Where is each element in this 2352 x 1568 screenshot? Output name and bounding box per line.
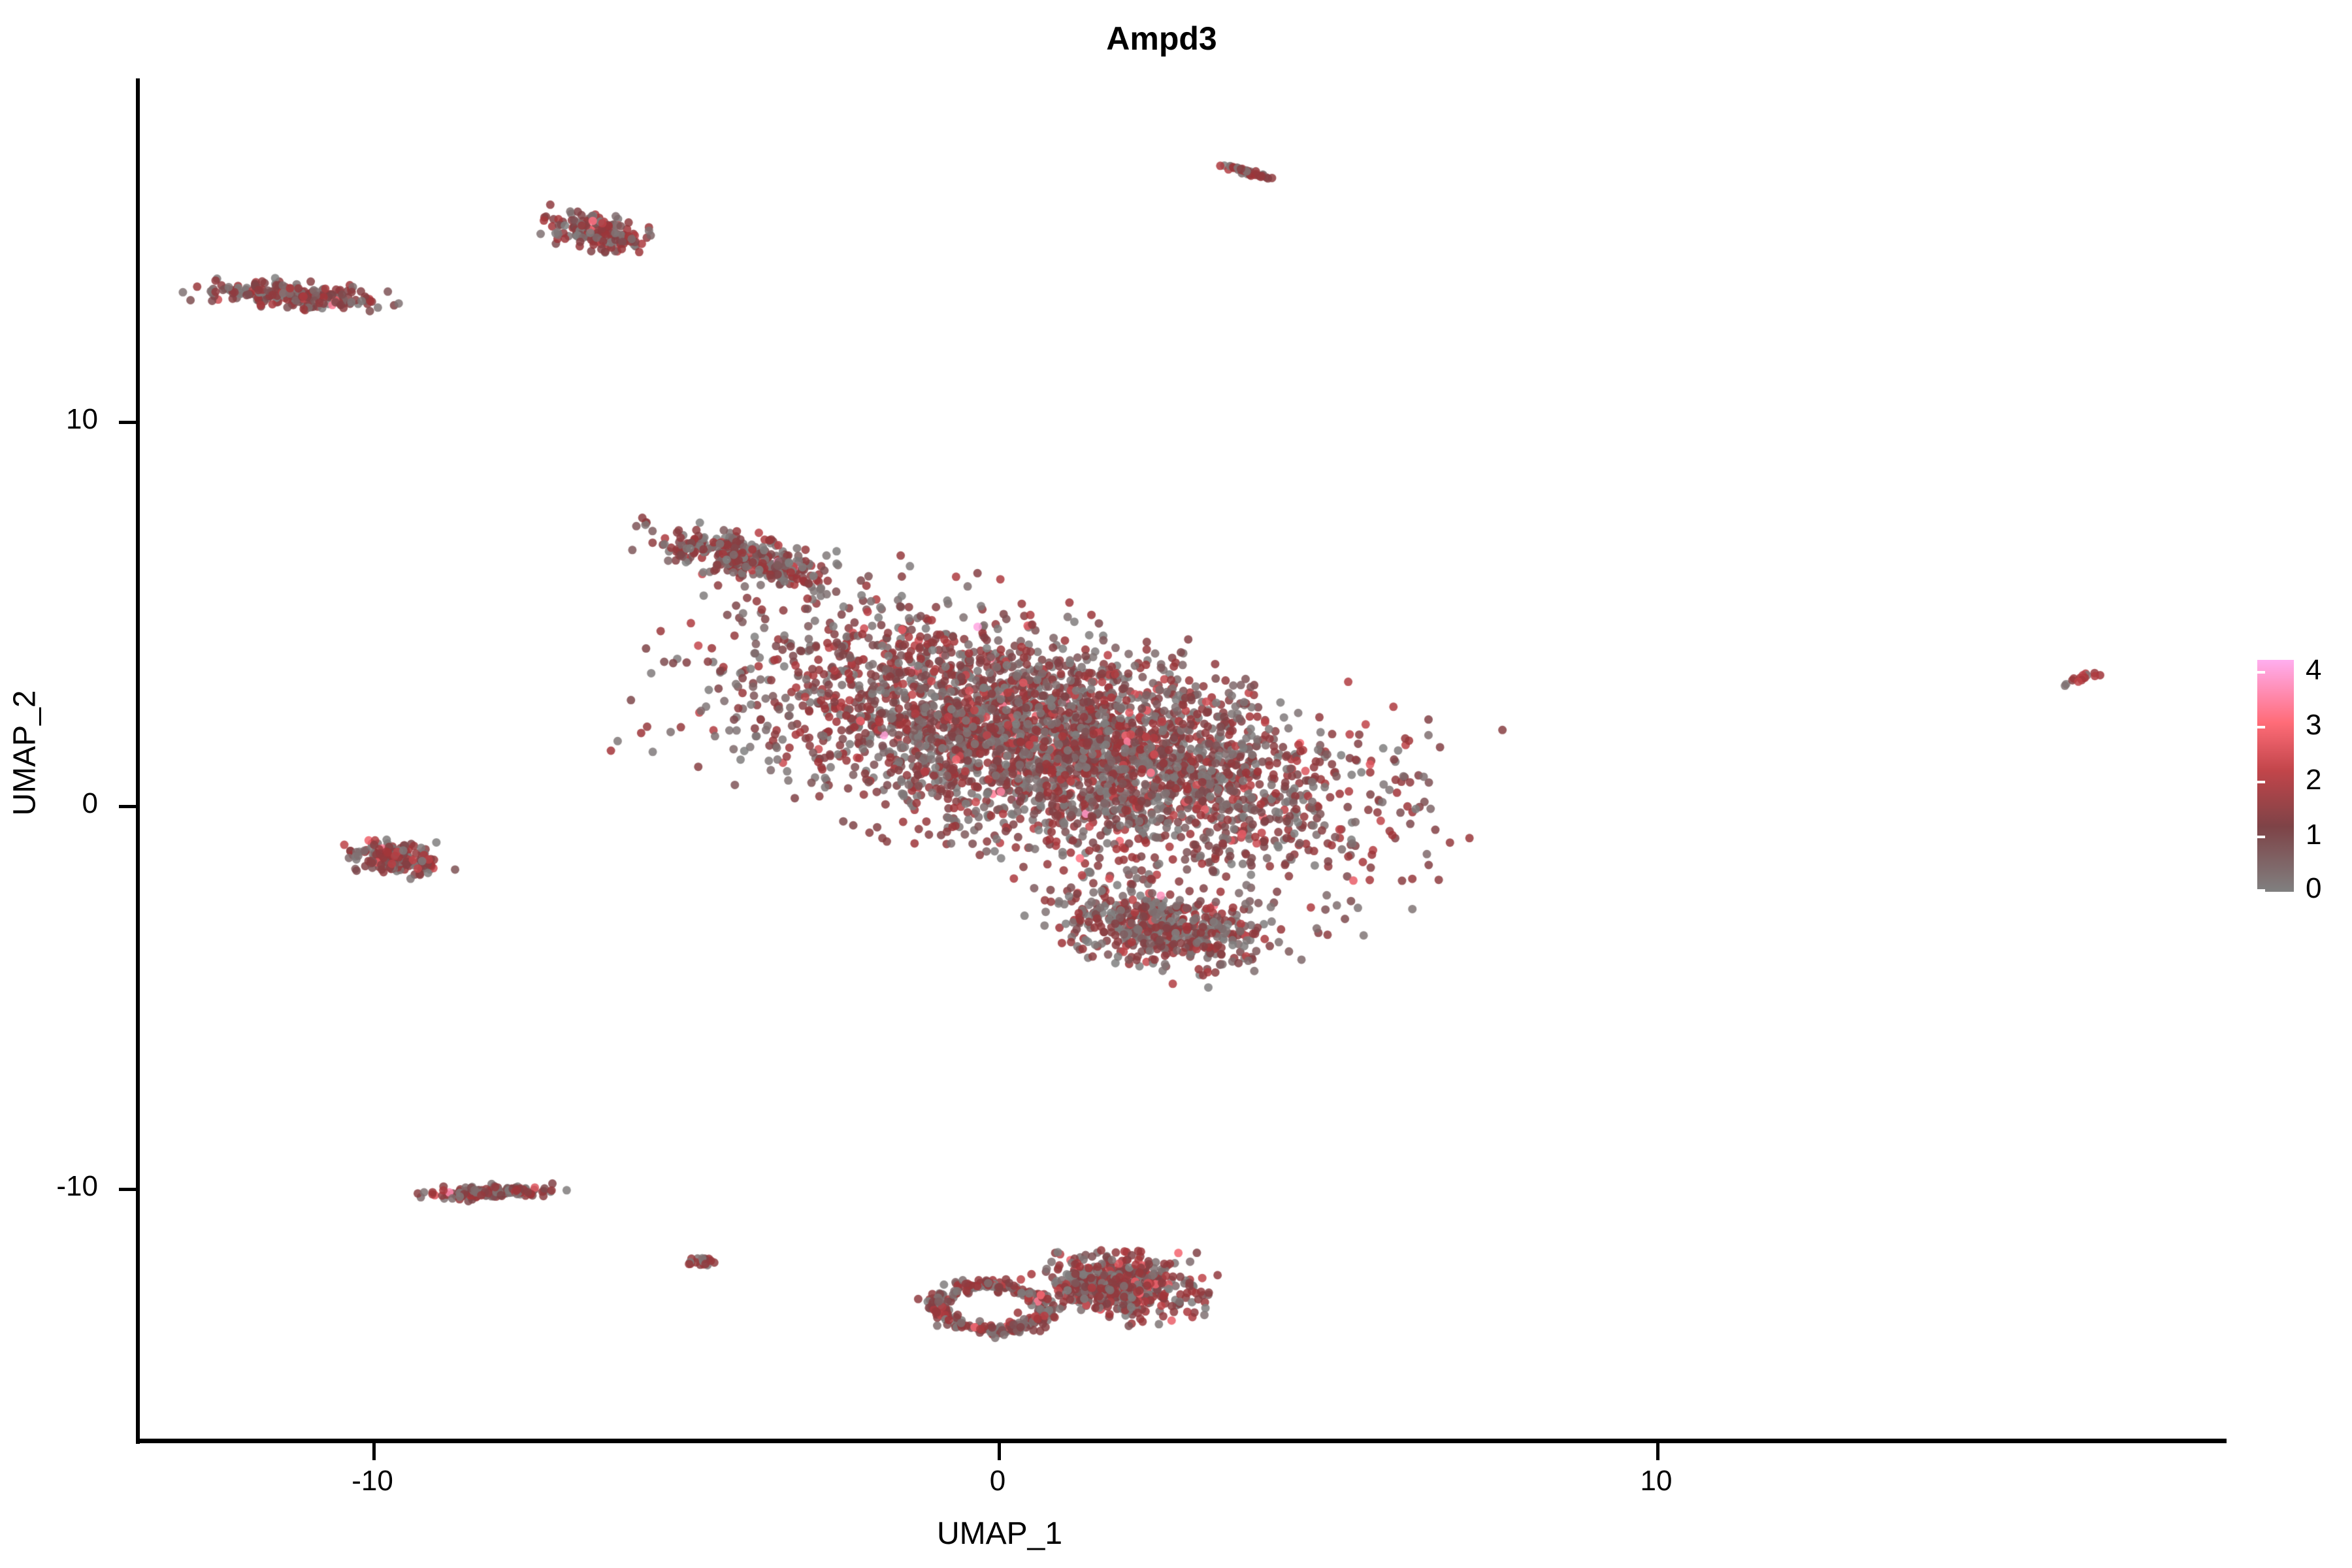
- colorbar-tick: [2257, 889, 2265, 892]
- x-axis-line: [136, 1439, 2227, 1443]
- x-axis-title: UMAP_1: [869, 1516, 1130, 1552]
- x-axis-tick-label: 10: [1591, 1467, 1722, 1495]
- colorbar-tick-label: 0: [2306, 874, 2345, 903]
- colorbar-gradient: [2257, 660, 2294, 892]
- colorbar-tick: [2257, 781, 2265, 783]
- y-axis-tick-mark: [119, 1188, 136, 1191]
- colorbar-tick: [2257, 836, 2265, 838]
- y-axis-tick-mark: [119, 805, 136, 808]
- x-axis-tick-label: -10: [307, 1467, 438, 1495]
- colorbar-tick-label: 3: [2306, 711, 2345, 740]
- y-axis-title: UMAP_2: [7, 649, 43, 858]
- x-axis-tick-label: 0: [932, 1467, 1063, 1495]
- page-title: Ampd3: [0, 20, 2338, 57]
- y-axis-line: [136, 78, 140, 1444]
- y-axis-tick-mark: [119, 421, 136, 424]
- y-axis-tick-label: -10: [20, 1172, 98, 1201]
- plot-panel: [139, 78, 2177, 1441]
- legend-colorbar: 4 3 2 1 0: [2257, 660, 2349, 895]
- colorbar-tick: [2257, 726, 2265, 728]
- colorbar-tick-label: 1: [2306, 821, 2345, 849]
- y-axis-tick-label: 10: [20, 405, 98, 434]
- colorbar-tick: [2257, 671, 2265, 674]
- colorbar-tick-label: 4: [2306, 656, 2345, 685]
- umap-feature-plot: Ampd3 10 0 -10 -10 0 10 UMAP_2 UMAP_1 4 …: [0, 0, 2352, 1568]
- x-axis-tick-mark: [998, 1443, 1001, 1460]
- x-axis-tick-mark: [372, 1443, 376, 1460]
- x-axis-tick-mark: [1656, 1443, 1659, 1460]
- colorbar-tick-label: 2: [2306, 766, 2345, 794]
